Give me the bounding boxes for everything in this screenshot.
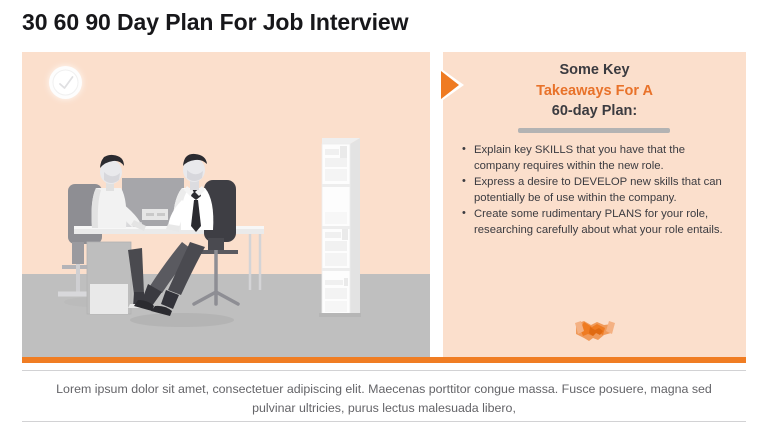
page-title: 30 60 90 Day Plan For Job Interview xyxy=(22,9,408,36)
panel-heading: Some Key Takeaways For A 60-day Plan: xyxy=(457,60,732,122)
list-item: Create some rudimentary PLANS for your r… xyxy=(462,207,730,238)
bookshelf-icon xyxy=(319,138,361,317)
takeaways-list: Explain key SKILLS that you have that th… xyxy=(462,143,730,239)
heading-line-3: 60-day Plan: xyxy=(457,101,732,122)
footer-rule-top xyxy=(22,370,746,371)
slide: 30 60 90 Day Plan For Job Interview xyxy=(0,0,768,432)
heading-line-2: Takeaways For A xyxy=(457,81,732,102)
heading-line-1: Some Key xyxy=(457,60,732,81)
office-scene-illustration xyxy=(22,52,430,357)
slide-body: Some Key Takeaways For A 60-day Plan: Ex… xyxy=(22,52,746,357)
footer-text: Lorem ipsum dolor sit amet, consectetuer… xyxy=(36,380,732,417)
heading-divider xyxy=(518,128,670,133)
list-item: Express a desire to DEVELOP new skills t… xyxy=(462,175,730,206)
check-circle-icon xyxy=(49,66,82,99)
list-item: Explain key SKILLS that you have that th… xyxy=(462,143,730,174)
footer-rule-bottom xyxy=(22,421,746,422)
handshake-icon xyxy=(574,313,616,343)
illustration-panel xyxy=(22,52,430,357)
accent-bar xyxy=(22,357,746,363)
takeaways-panel: Some Key Takeaways For A 60-day Plan: Ex… xyxy=(443,52,746,357)
